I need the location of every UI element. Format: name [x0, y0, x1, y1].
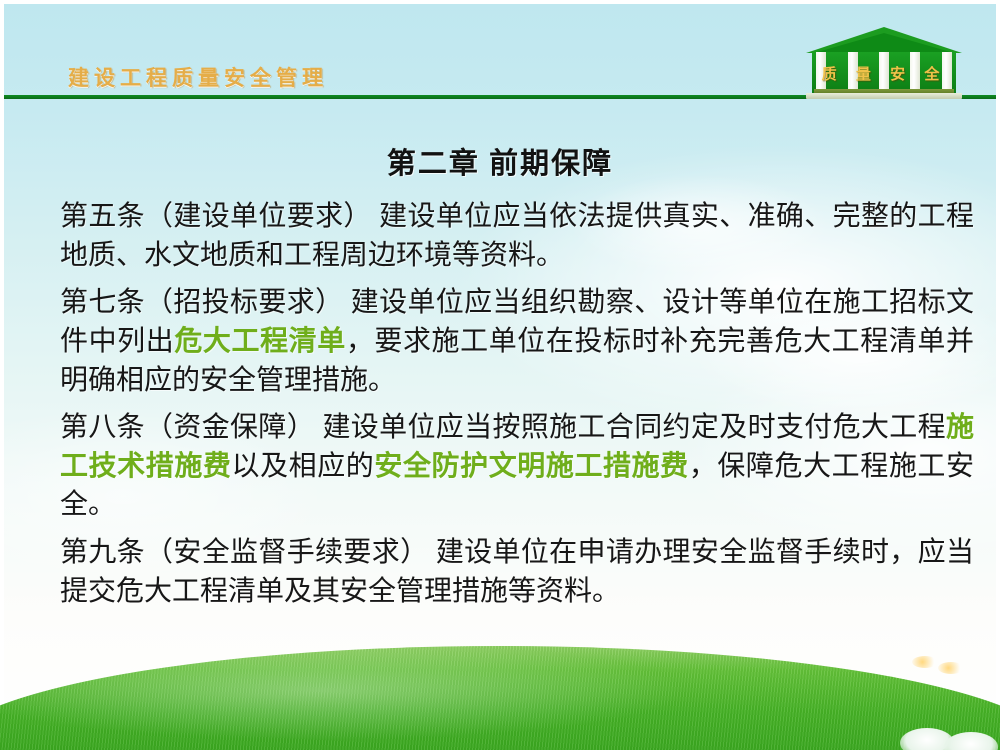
text-run: 以及相应的	[231, 451, 374, 482]
text-run: 第五条（建设单位要求）	[60, 201, 372, 232]
paragraph-article-8: 第八条（资金保障） 建设单位应当按照施工合同约定及时支付危大工程施工技术措施费以…	[60, 409, 974, 525]
text-run: 第八条（资金保障）	[60, 412, 315, 443]
slide-heading: 第二章 前期保障	[0, 140, 1000, 182]
text-run	[428, 537, 435, 568]
paragraph-article-7: 第七条（招投标要求） 建设单位应当组织勘察、设计等单位在施工招标文件中列出危大工…	[60, 284, 974, 400]
quality-safety-building-logo: 质 量 安 全	[806, 27, 962, 101]
paragraph-list: 第五条（建设单位要求） 建设单位应当依法提供真实、准确、完整的工程地质、水文地质…	[0, 198, 1000, 611]
slide-content: 第二章 前期保障 第五条（建设单位要求） 建设单位应当依法提供真实、准确、完整的…	[0, 140, 1000, 620]
highlighted-term: 安全防护文明施工措施费	[374, 451, 688, 482]
highlighted-term: 危大工程清单	[174, 326, 345, 357]
text-run: 第九条（安全监督手续要求）	[60, 537, 428, 568]
header-title: 建设工程质量安全管理	[68, 62, 328, 92]
grass-highlight	[0, 646, 1000, 750]
grass-footer-decoration	[0, 638, 1000, 750]
logo-base	[806, 93, 962, 99]
flower-decoration	[912, 656, 938, 668]
presentation-slide: 建设工程质量安全管理 质 量 安 全 第二章 前期保障 第五条（建设单位要求） …	[0, 0, 1000, 750]
text-run: 建设单位应当按照施工合同约定及时支付危大工程	[322, 412, 946, 443]
paragraph-article-9: 第九条（安全监督手续要求） 建设单位在申请办理安全监督手续时，应当提交危大工程清…	[60, 534, 974, 611]
flower-decoration	[938, 662, 964, 674]
logo-roof-inner-icon	[814, 33, 954, 53]
text-run	[343, 287, 350, 318]
text-run: 第七条（招投标要求）	[60, 287, 343, 318]
logo-label: 质 量 安 全	[806, 63, 962, 84]
paragraph-article-5: 第五条（建设单位要求） 建设单位应当依法提供真实、准确、完整的工程地质、水文地质…	[60, 198, 974, 275]
